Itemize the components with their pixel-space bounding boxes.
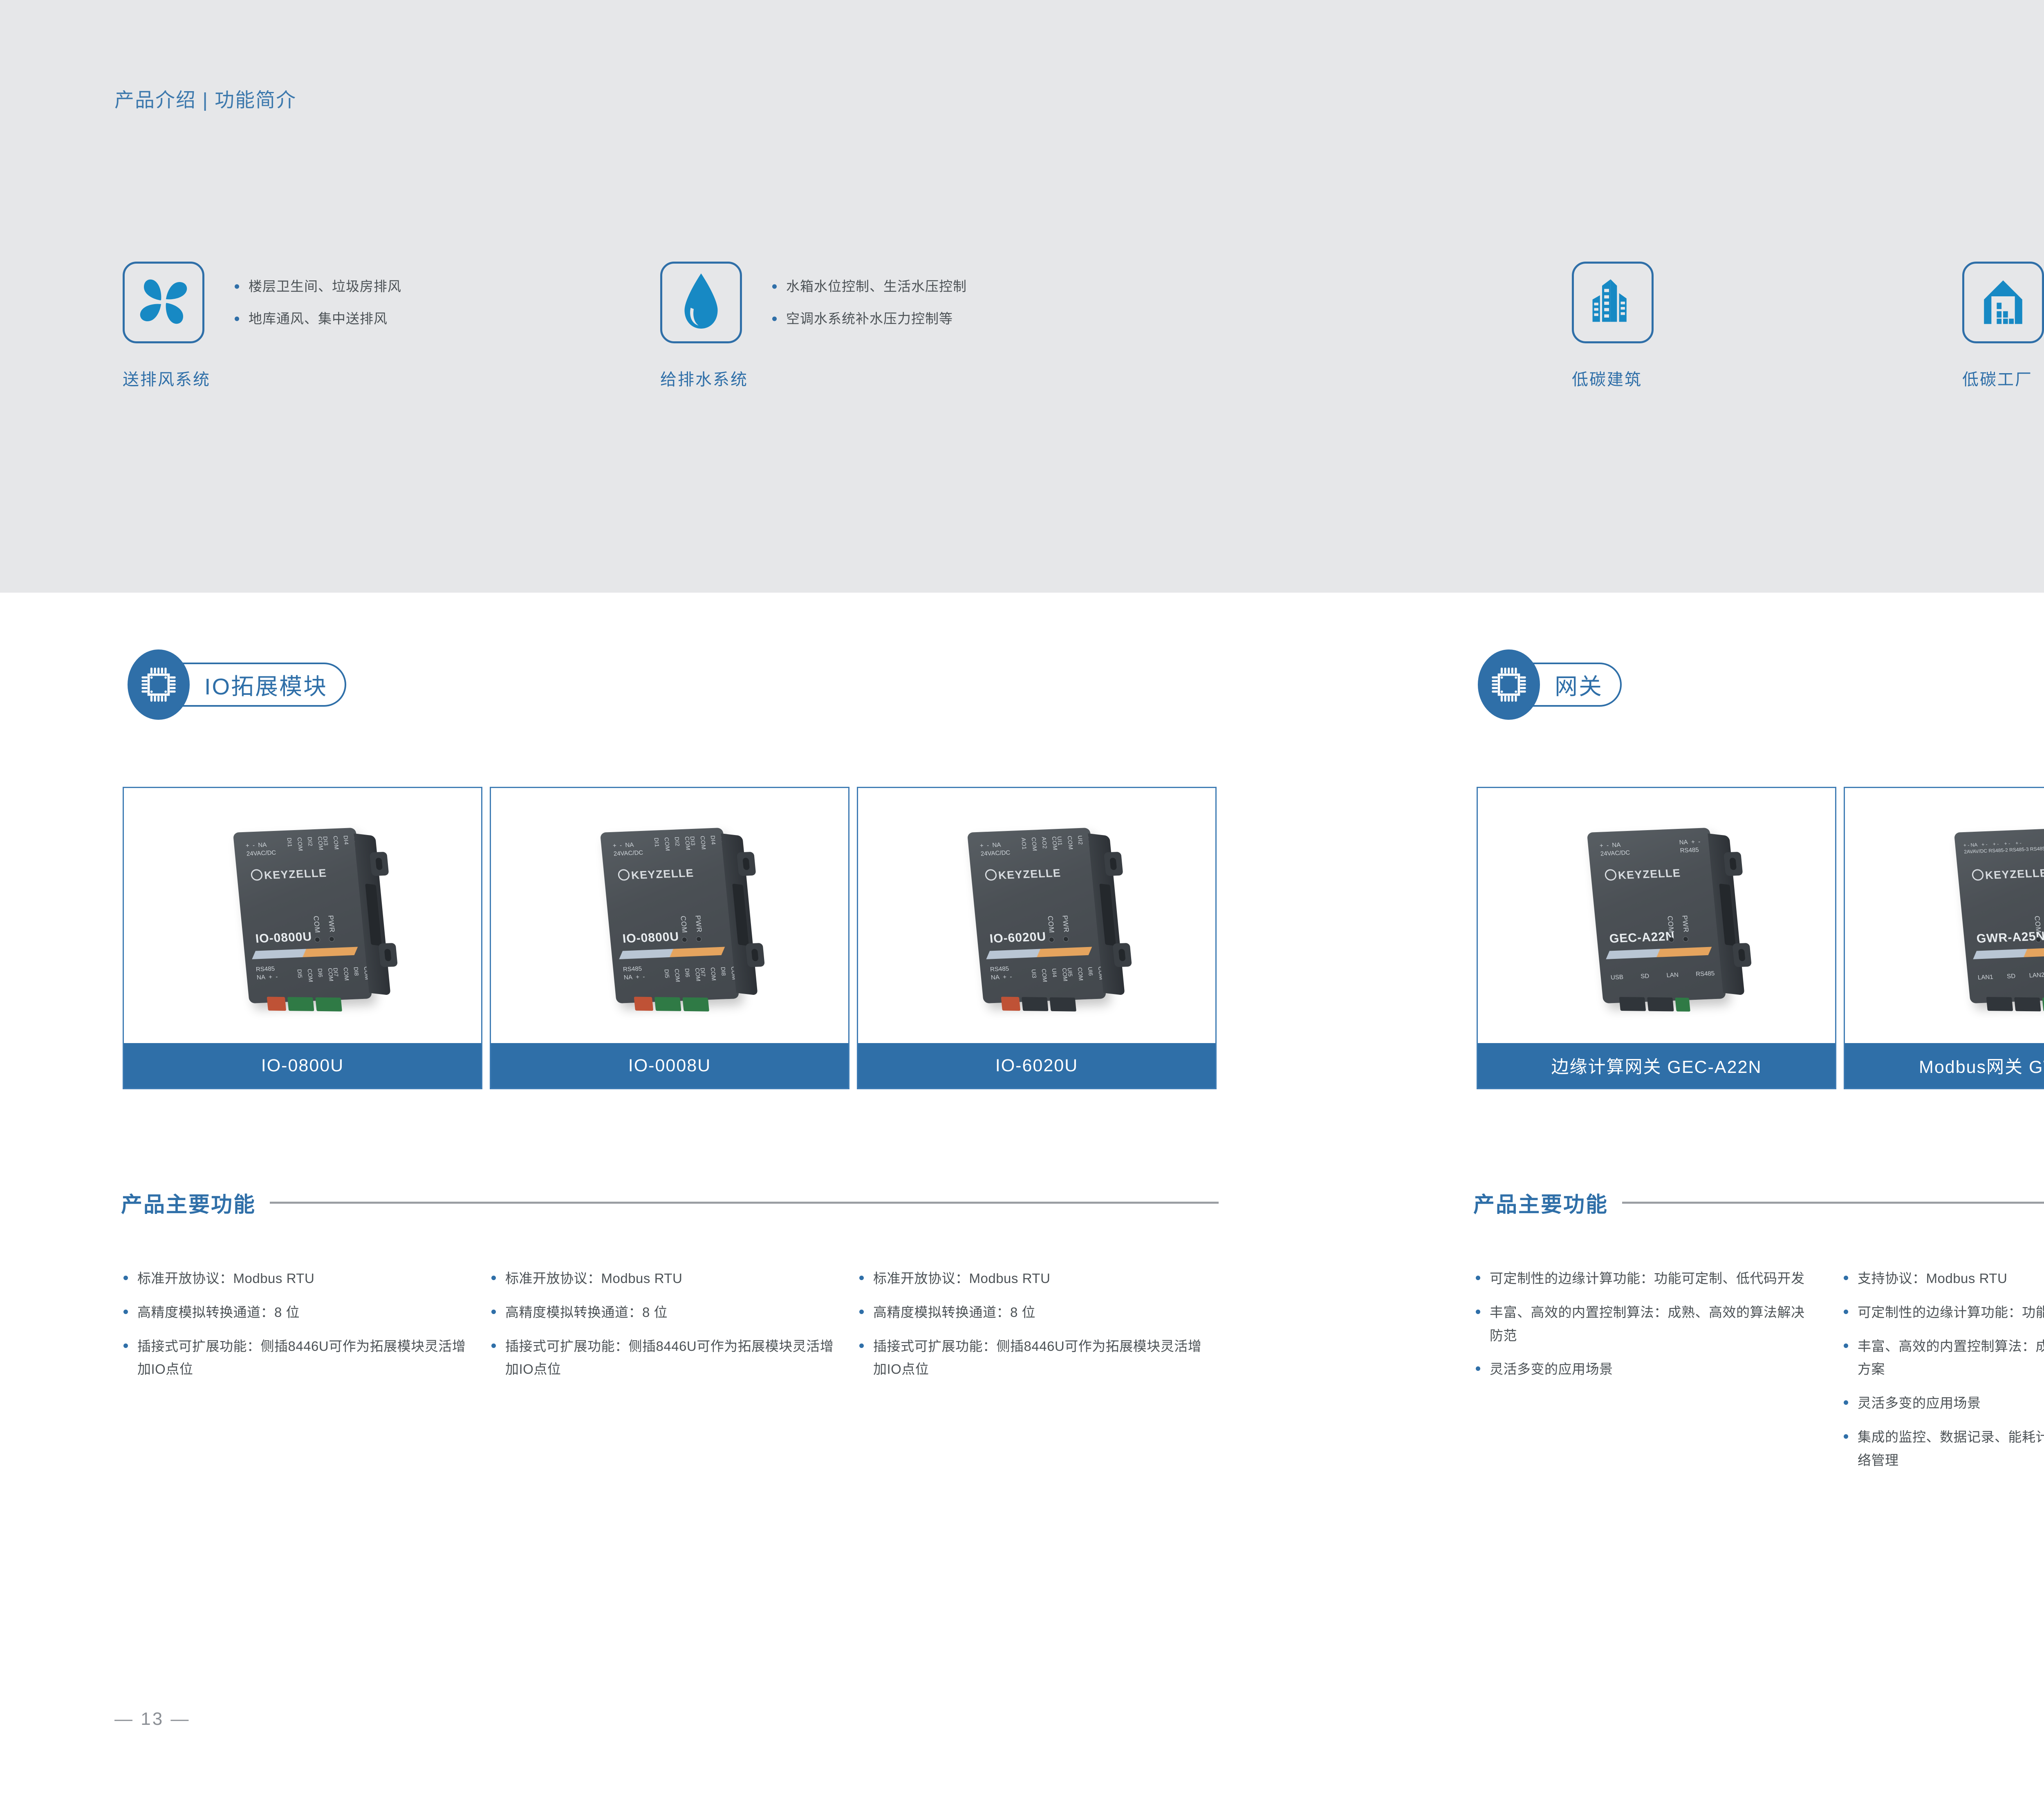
device-led-labels: COMPWR (2033, 915, 2044, 934)
product-label: IO-0800U (124, 1043, 481, 1088)
list-item: 可定制性的边缘计算功能：功能可定制、低代码开发 (1473, 1267, 1817, 1290)
list-item: 高精度模拟转换通道：8 位 (121, 1301, 468, 1324)
device-leds (1668, 936, 1688, 943)
device-accent-stripe (252, 947, 358, 959)
device-bottom-pins-a: DI5COMDI6COM (663, 968, 702, 983)
device-model-text: IO-6020U (989, 930, 1047, 946)
device-brand-logo: KEYZELLE (985, 867, 1062, 882)
list-item: 插接式可扩展功能：侧插8446U可作为拓展模块灵活增加IO点位 (121, 1335, 468, 1382)
office-building-icon (1586, 273, 1639, 332)
device-power-label: + - NA24VAC/DC (1599, 841, 1630, 858)
device-port-labels: LAN1SDLAN2RS485-1 (1977, 970, 2044, 982)
features-heading-right: 产品主要功能 (1473, 1187, 2044, 1218)
device-connectors (1619, 997, 1690, 1012)
product-image: + - NA24VAC/DC DI1COMDI2COM DI3COMDI4COM… (124, 788, 481, 1043)
list-item: 插接式可扩展功能：侧插8446U可作为拓展模块灵活增加IO点位 (489, 1335, 836, 1382)
section-badge-gateway: 网关 (1478, 652, 1622, 717)
device-accent-stripe (986, 947, 1092, 959)
device-bottom-pins-b: UI5COMUI6COM (1067, 967, 1105, 981)
device-bus-top-label: NA + -RS485 (1679, 838, 1701, 855)
application-low-carbon-factory: 低碳工厂 (1962, 262, 2044, 390)
device-port-labels: USBSDLANRS485 (1610, 970, 1715, 982)
device-top-pins-a: DI1COMDI2COM (286, 836, 325, 852)
scenario-water-supply: 给排水系统 水箱水位控制、生活水压控制 空调水系统补水压力控制等 (660, 262, 748, 390)
product-image: + - NA24VAC/DC AO1COMAO2COM UI1COMUI2COM… (858, 788, 1215, 1043)
list-item: 楼层卫生间、垃圾房排风 (232, 280, 543, 293)
device-bus-label: RS485NA + - (623, 965, 645, 982)
product-card[interactable]: + - NA + - + - + - + - 2AVAV/DC RS485-2 … (1844, 787, 2044, 1089)
scenario-bullet-list: 楼层卫生间、垃圾房排风 地库通风、集中送排风 (232, 280, 543, 344)
list-item: 空调水系统补水压力控制等 (770, 312, 1080, 325)
device-led-labels: COMPWR (1046, 915, 1070, 934)
features-column: 标准开放协议：Modbus RTU 高精度模拟转换通道：8 位 插接式可扩展功能… (857, 1267, 1204, 1392)
scenario-title: 送排风系统 (123, 366, 211, 390)
list-item: 标准开放协议：Modbus RTU (489, 1267, 836, 1290)
device-model-text: IO-0800U (622, 930, 679, 946)
device-led-labels: COMPWR (679, 915, 703, 934)
running-header-left: 产品介绍 | 功能简介 (114, 84, 296, 112)
device-brand-logo: KEYZELLE (1605, 867, 1681, 882)
list-item: 插接式可扩展功能：侧插8446U可作为拓展模块灵活增加IO点位 (857, 1335, 1204, 1382)
list-item: 丰富、高效的内置控制算法：成熟、高效的算法解决防范 (1473, 1301, 1817, 1348)
device-bus-label: RS485NA + - (255, 965, 278, 982)
fan-icon (133, 271, 194, 334)
device-bottom-pins-b: DI7COMDI8COM (332, 967, 371, 981)
list-item: 地库通风、集中送排风 (232, 312, 543, 325)
features-column: 标准开放协议：Modbus RTU 高精度模拟转换通道：8 位 插接式可扩展功能… (489, 1267, 836, 1392)
device-accent-stripe (1973, 947, 2044, 959)
factory-icon (1977, 273, 2030, 332)
device-led-labels: COMPWR (312, 915, 336, 934)
brochure-spread: 产品介绍 | 功能简介 产品介绍 | 功能简介 — 13 — — 14 — 送排… (0, 0, 2044, 1798)
features-column: 可定制性的边缘计算功能：功能可定制、低代码开发 丰富、高效的内置控制算法：成熟、… (1473, 1267, 1817, 1392)
device-connectors (267, 997, 342, 1012)
product-image: + - NA24VAC/DC NA + -RS485 KEYZELLE GEC-… (1478, 788, 1835, 1043)
device-brand-logo: KEYZELLE (251, 867, 327, 882)
factory-icon-box (1962, 262, 2044, 343)
features-column: 支持协议：Modbus RTU 可定制性的边缘计算功能：功能可定制、低代码开发 … (1841, 1267, 2044, 1482)
list-item: 高精度模拟转换通道：8 位 (857, 1301, 1204, 1324)
features-heading-left: 产品主要功能 (121, 1187, 1219, 1218)
list-item: 支持协议：Modbus RTU (1841, 1267, 2044, 1290)
list-item: 可定制性的边缘计算功能：功能可定制、低代码开发 (1841, 1301, 2044, 1324)
device-led-labels: COMPWR (1665, 915, 1690, 934)
features-title: 产品主要功能 (121, 1187, 256, 1218)
product-card[interactable]: + - NA24VAC/DC AO1COMAO2COM UI1COMUI2COM… (857, 787, 1217, 1089)
device-leds (1049, 936, 1069, 943)
device-brand-logo: KEYZELLE (1972, 867, 2044, 882)
product-label: 边缘计算网关 GEC-A22N (1478, 1043, 1835, 1088)
device-accent-stripe (1606, 947, 1712, 959)
device-connectors (1986, 997, 2044, 1012)
device-connectors (634, 997, 709, 1012)
product-card[interactable]: + - NA24VAC/DC NA + -RS485 KEYZELLE GEC-… (1477, 787, 1836, 1089)
list-item: 标准开放协议：Modbus RTU (857, 1267, 1204, 1290)
device-power-label: + - NA + - + - + - + - 2AVAV/DC RS485-2 … (1963, 838, 2044, 855)
list-item: 集成的监控、数据记录、能耗计量、报警、调度和网络管理 (1841, 1426, 2044, 1472)
list-item: 灵活多变的应用场景 (1841, 1392, 2044, 1415)
device-model-text: GEC-A22N (1609, 929, 1675, 946)
office-building-icon-box (1572, 262, 1654, 343)
device-top-pins-a: DI1COMDI2COM (653, 836, 692, 852)
device-brand-logo: KEYZELLE (618, 867, 695, 882)
list-item: 水箱水位控制、生活水压控制 (770, 280, 1080, 293)
chip-icon (1478, 649, 1540, 720)
device-connectors (1001, 997, 1076, 1012)
list-item: 高精度模拟转换通道：8 位 (489, 1301, 836, 1324)
scenario-title: 给排水系统 (660, 366, 748, 390)
device-power-label: + - NA24VAC/DC (612, 841, 643, 858)
water-drop-icon (675, 271, 728, 334)
water-drop-icon-box (660, 262, 742, 343)
product-card[interactable]: + - NA24VAC/DC DI1COMDI2COM DI3COMDI4COM… (490, 787, 849, 1089)
device-bus-label: RS485NA + - (990, 965, 1012, 982)
device-leds (681, 936, 702, 943)
list-item: 标准开放协议：Modbus RTU (121, 1267, 468, 1290)
fan-icon-box (123, 262, 204, 343)
device-power-label: + - NA24VAC/DC (245, 841, 276, 858)
page-number-left: — 13 — (114, 1709, 190, 1729)
heading-rule (1622, 1202, 2044, 1204)
device-leds (314, 936, 334, 943)
product-label: IO-6020U (858, 1043, 1215, 1088)
device-top-pins-a: AO1COMAO2COM (1020, 836, 1059, 852)
features-column: 标准开放协议：Modbus RTU 高精度模拟转换通道：8 位 插接式可扩展功能… (121, 1267, 468, 1392)
product-image: + - NA24VAC/DC DI1COMDI2COM DI3COMDI4COM… (491, 788, 848, 1043)
device-bottom-pins-a: DI5COMDI6COM (296, 968, 335, 983)
application-low-carbon-building: 低碳建筑 (1572, 262, 1654, 390)
product-card[interactable]: + - NA24VAC/DC DI1COMDI2COM DI3COMDI4COM… (123, 787, 482, 1089)
list-item: 丰富、高效的内置控制算法：成熟、高效的算法解决方案 (1841, 1335, 2044, 1382)
device-model-text: IO-0800U (255, 930, 312, 946)
product-image: + - NA + - + - + - + - 2AVAV/DC RS485-2 … (1845, 788, 2044, 1043)
product-label: IO-0008U (491, 1043, 848, 1088)
section-badge-io-module: IO拓展模块 (128, 652, 346, 717)
chip-icon (128, 649, 190, 720)
application-title: 低碳建筑 (1572, 366, 1654, 390)
features-title: 产品主要功能 (1473, 1187, 1608, 1218)
application-title: 低碳工厂 (1962, 366, 2044, 390)
device-bottom-pins-a: UI3COMUI4COM (1031, 968, 1069, 983)
device-bottom-pins-b: DI7COMDI8COM (699, 967, 738, 981)
product-label: Modbus网关 GWR-A25N (1845, 1043, 2044, 1088)
list-item: 灵活多变的应用场景 (1473, 1358, 1817, 1381)
scenario-bullet-list: 水箱水位控制、生活水压控制 空调水系统补水压力控制等 (770, 280, 1080, 344)
device-leds (2035, 936, 2044, 943)
heading-rule (270, 1202, 1219, 1204)
scenario-ventilation: 送排风系统 楼层卫生间、垃圾房排风 地库通风、集中送排风 (123, 262, 211, 390)
device-power-label: + - NA24VAC/DC (979, 841, 1011, 858)
device-accent-stripe (619, 947, 725, 959)
